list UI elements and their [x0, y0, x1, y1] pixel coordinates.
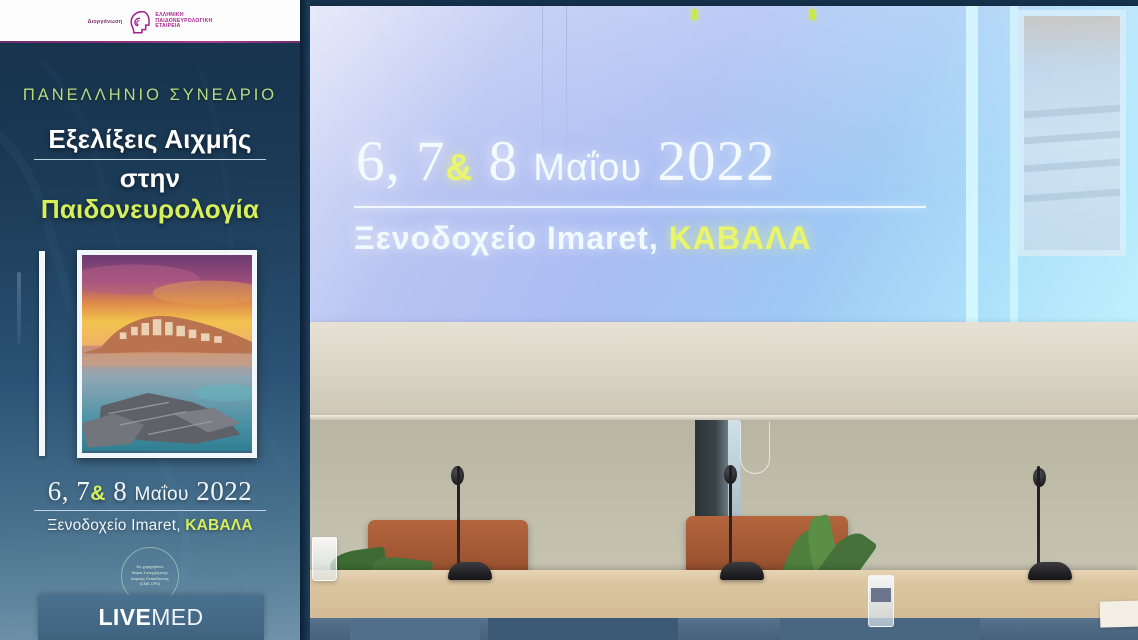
title-divider	[34, 159, 266, 160]
cme-line-3: Ιατρικής Εκπαίδευσης	[131, 577, 169, 582]
poster-date-days: 6, 7	[48, 476, 91, 506]
microphone-right	[1028, 468, 1072, 580]
slide-date-day3: 8	[473, 130, 533, 193]
head-profile-icon	[129, 10, 151, 34]
water-tumbler-center	[868, 575, 894, 627]
organizer-label: Διοργάνωση	[88, 19, 123, 25]
slide-photo	[1018, 10, 1126, 256]
cme-line-4: (CME-CPD)	[140, 582, 161, 587]
slide-light-band	[1010, 6, 1018, 322]
roller-blind-valance	[310, 322, 1138, 420]
kavala-sunset-photo	[82, 255, 252, 451]
poster-venue: Ξενοδοχείο Imaret, ΚΑΒΑΛΑ	[16, 517, 284, 535]
cme-line-2: Μόρια Συνεχιζόμενης	[132, 571, 169, 576]
slide-light-band	[966, 6, 978, 322]
table-panel	[488, 618, 678, 640]
poster-kicker: ΠΑΝΕΛΛΗΝΙΟ ΣΥΝΕΔΡΙΟ	[16, 86, 284, 105]
projector-indicator-dot	[692, 9, 697, 20]
society-logo: ΕΛΛΗΝΙΚΗ ΠΑΙΔΟΝΕΥΡΟΛΟΓΙΚΗ ΕΤΑΙΡΕΙΑ	[129, 10, 212, 34]
slide-date-days: 6, 7	[356, 130, 446, 193]
livestream-page: Διοργάνωση ΕΛΛΗΝΙΚΗ ΠΑΙΔΟΝΕΥΡΟΛΟΓΙΚΗ ΕΤΑ…	[0, 0, 1138, 640]
poster-content: ΠΑΝΕΛΛΗΝΙΟ ΣΥΝΕΔΡΙΟ Εξελίξεις Αιχμής στη…	[0, 86, 300, 605]
projector-indicator-dot	[810, 9, 815, 20]
table-panel	[350, 618, 480, 640]
poster-venue-city: ΚΑΒΑΛΑ	[185, 517, 253, 534]
microphone-left	[448, 466, 492, 580]
poster-date-ampersand: &	[90, 482, 106, 505]
society-line-3: ΕΤΑΙΡΕΙΑ	[155, 24, 212, 30]
projection-screen: 6, 7& 8 Μαΐου 2022 Ξενοδοχείο Imaret, ΚΑ…	[310, 6, 1138, 322]
livemed-brand-plate[interactable]: LIVEMED	[38, 595, 264, 640]
slide-date: 6, 7& 8 Μαΐου 2022	[356, 129, 775, 194]
conference-poster-sidebar: Διοργάνωση ΕΛΛΗΝΙΚΗ ΠΑΙΔΟΝΕΥΡΟΛΟΓΙΚΗ ΕΤΑ…	[0, 0, 300, 640]
poster-date: 6, 7& 8 Μαΐου 2022	[16, 476, 284, 507]
brand-bold: LIVE	[98, 604, 151, 631]
microphone-center	[720, 465, 764, 580]
slide-venue-city: ΚΑΒΑΛΑ	[669, 220, 812, 256]
poster-title-prefix: στην	[120, 163, 181, 193]
slide-venue-prefix: Ξενοδοχείο Imaret,	[354, 220, 669, 256]
poster-date-year: 2022	[196, 476, 252, 506]
slide-date-year: 2022	[657, 130, 775, 193]
society-name: ΕΛΛΗΝΙΚΗ ΠΑΙΔΟΝΕΥΡΟΛΟΓΙΚΗ ΕΤΑΙΡΕΙΑ	[155, 13, 212, 30]
papers-on-table	[1100, 598, 1138, 627]
poster-venue-prefix: Ξενοδοχείο Imaret,	[47, 517, 185, 534]
poster-title-line-2: στην Παιδονευρολογία	[16, 163, 284, 225]
frame-accent-bar	[39, 251, 45, 456]
poster-photo-frame	[77, 250, 257, 458]
live-video-pane[interactable]: 6, 7& 8 Μαΐου 2022 Ξενοδοχείο Imaret, ΚΑ…	[300, 0, 1138, 640]
water-glass-left	[312, 537, 337, 581]
conference-table	[310, 570, 1138, 640]
poster-title-line-1: Εξελίξεις Αιχμής	[16, 124, 284, 155]
slide-date-month: Μαΐου	[533, 147, 642, 189]
poster-title-highlight: Παιδονευρολογία	[41, 194, 259, 224]
slide-date-ampersand: &	[446, 147, 474, 188]
brand-light: MED	[151, 604, 203, 631]
cme-line-1: Θα χορηγηθούν	[136, 565, 163, 570]
slide-venue: Ξενοδοχείο Imaret, ΚΑΒΑΛΑ	[354, 220, 812, 257]
poster-date-month: Μαΐου	[134, 484, 189, 505]
poster-photo-block	[31, 247, 269, 459]
video-left-edge	[300, 0, 310, 640]
organizer-logo-bar: Διοργάνωση ΕΛΛΗΝΙΚΗ ΠΑΙΔΟΝΕΥΡΟΛΟΓΙΚΗ ΕΤΑ…	[0, 0, 300, 43]
poster-date-day3: 8	[106, 476, 135, 506]
slide-divider	[354, 206, 926, 208]
date-divider	[34, 510, 266, 511]
